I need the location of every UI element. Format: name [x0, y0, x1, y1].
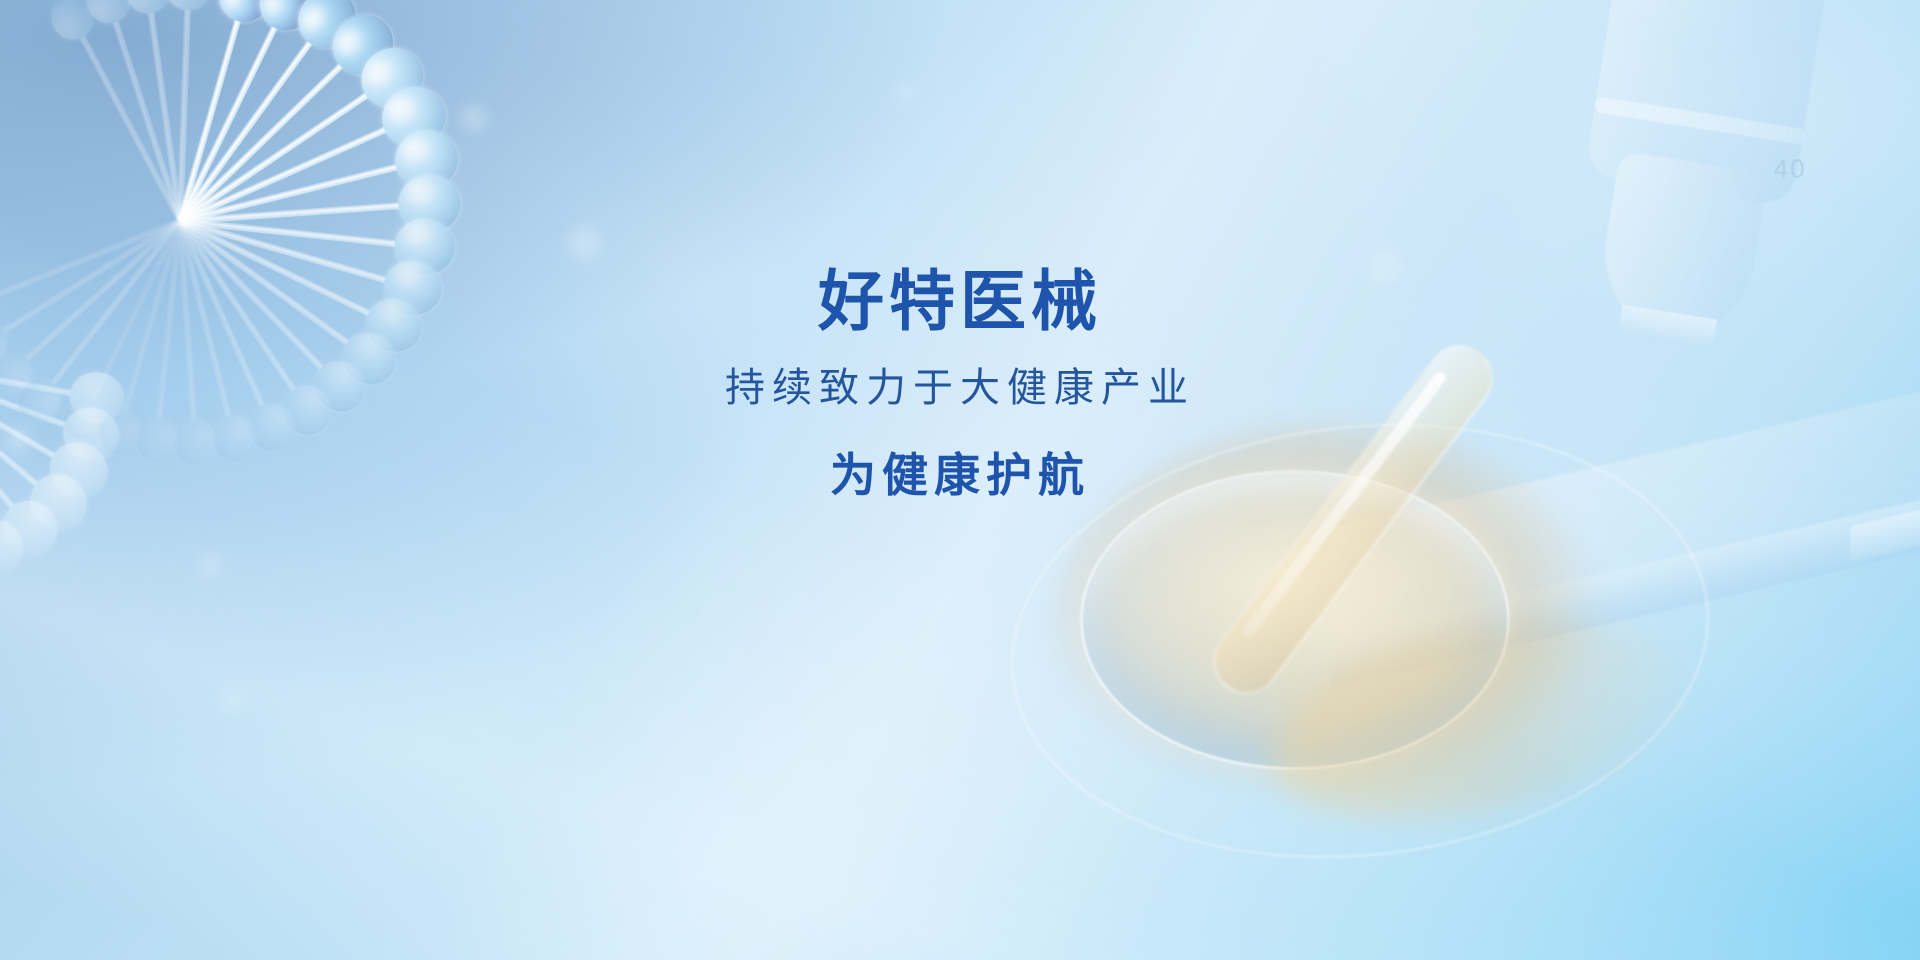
page-tagline: 为健康护航 — [0, 452, 1920, 498]
page-subtitle: 持续致力于大健康产业 — [0, 368, 1920, 408]
page-title: 好特医械 — [0, 268, 1920, 334]
bokeh-dot — [896, 83, 914, 101]
hero-copy: 好特医械 持续致力于大健康产业 为健康护航 — [0, 268, 1920, 498]
dna-bead — [164, 0, 212, 11]
hero-banner: 40 好特医械 持续致力于大健康产业 为健康护航 — [0, 0, 1920, 960]
microscope-magnification-label: 40 — [1774, 153, 1807, 184]
